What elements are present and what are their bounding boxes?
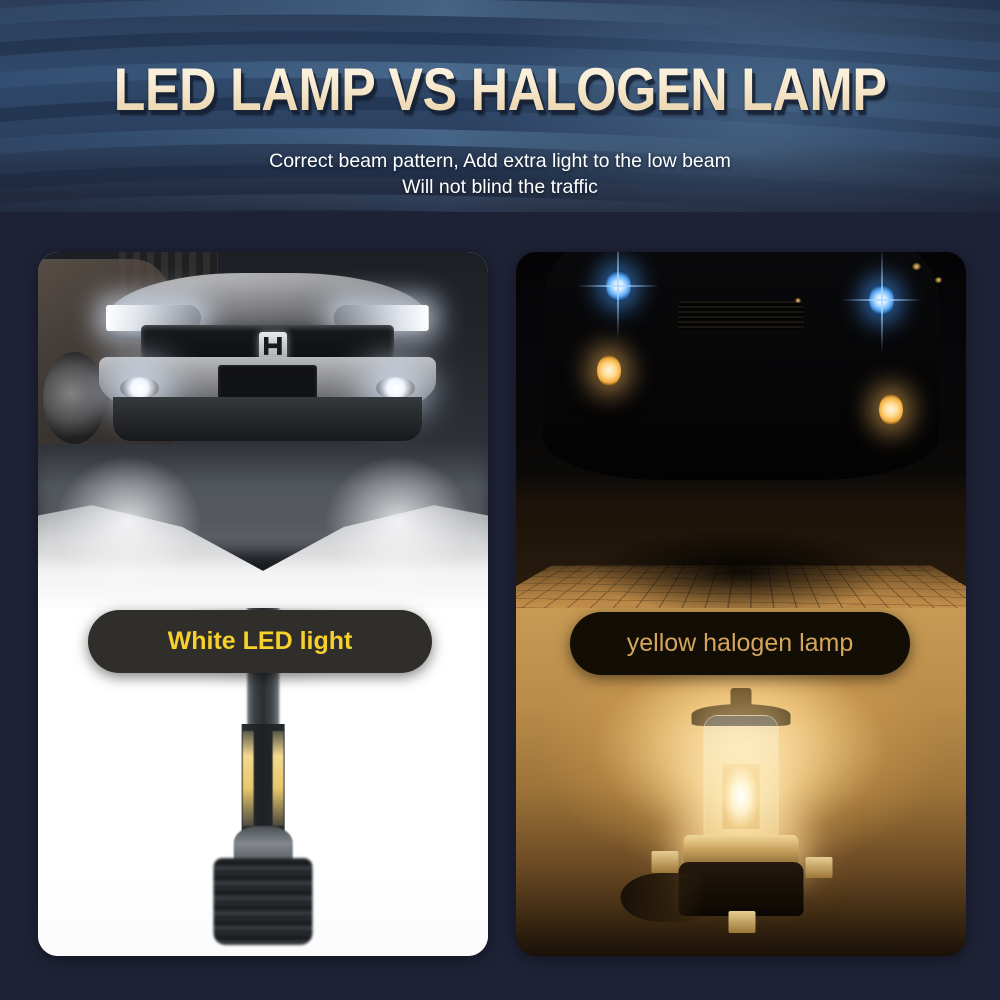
halogen-mount-tab	[729, 911, 756, 933]
honda-civic-front	[92, 273, 443, 472]
halogen-bulb	[638, 677, 845, 949]
city-light-dot	[935, 277, 942, 283]
led-chip-left	[242, 731, 253, 827]
blue-drl-right	[869, 284, 894, 316]
infographic-root: LED LAMP VS HALOGEN LAMP Correct beam pa…	[0, 0, 1000, 1000]
halogen-wiring	[621, 873, 704, 922]
halogen-mount-tab	[805, 857, 832, 879]
fog-light-right	[376, 377, 415, 399]
led-chip-zone	[242, 724, 285, 833]
subtitle-line-1: Correct beam pattern, Add extra light to…	[0, 148, 1000, 174]
car-lower-valance	[113, 397, 422, 441]
halogen-filament	[722, 764, 759, 829]
page-title: LED LAMP VS HALOGEN LAMP	[0, 60, 1000, 120]
subtitle-line-2: Will not blind the traffic	[0, 174, 1000, 200]
label-white-led-light: White LED light	[88, 610, 432, 673]
halogen-mount-tab	[652, 851, 679, 873]
vehicle-grille	[678, 301, 805, 330]
page-subtitle: Correct beam pattern, Add extra light to…	[0, 148, 1000, 200]
led-night-road-photo	[38, 252, 488, 608]
led-chip-right	[272, 731, 283, 827]
pavement-shadow	[597, 529, 885, 607]
led-bulb-base	[214, 858, 313, 945]
panel-halogen	[516, 252, 966, 956]
fog-light-left	[120, 377, 159, 399]
honda-logo-icon	[259, 332, 287, 360]
halogen-lamp-left	[597, 355, 621, 386]
panel-led	[38, 252, 488, 956]
label-yellow-halogen-lamp: yellow halogen lamp	[570, 612, 910, 675]
halogen-night-street-photo	[516, 252, 966, 608]
halogen-lamp-right	[879, 394, 903, 425]
blue-drl-left	[606, 270, 631, 302]
city-light-dot	[912, 263, 921, 270]
